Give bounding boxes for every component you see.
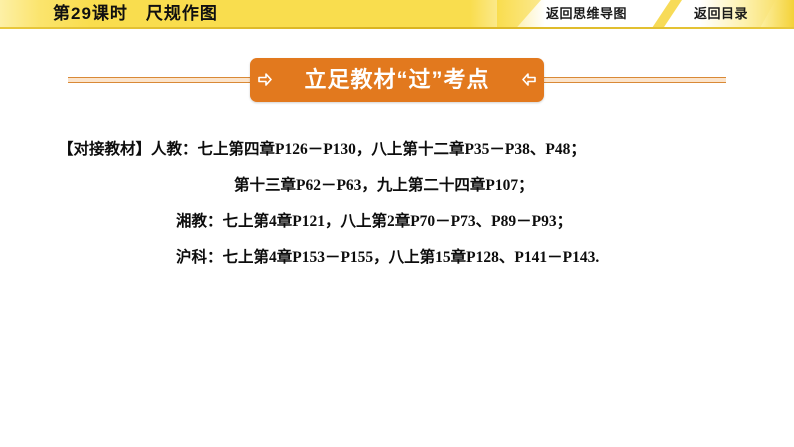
nav-back-to-contents[interactable]: 返回目录 [694,2,748,26]
banner-rule-left [68,77,253,83]
slide-canvas: 第29课时 尺规作图 返回思维导图 返回目录 立足教材“过”考点 【对接教材】人… [0,0,794,447]
textbook-line-3: 湘教：七上第4章P121，八上第2章P70－P73、P89－P93； [58,204,738,240]
arrow-left-icon [522,72,536,87]
textbook-line-4: 沪科：七上第4章P153－P155，八上第15章P128、P141－P143. [58,240,738,276]
header-underline [0,27,794,29]
textbook-mapping-block: 【对接教材】人教：七上第四章P126－P130，八上第十二章P35－P38、P4… [58,132,738,276]
textbook-line-1: 【对接教材】人教：七上第四章P126－P130，八上第十二章P35－P38、P4… [58,132,738,168]
textbook-line-2: 第十三章P62－P63，九上第二十四章P107； [58,168,738,204]
section-banner: 立足教材“过”考点 [250,58,544,102]
page-title: 第29课时 尺规作图 [53,1,218,27]
banner-rule-right [541,77,726,83]
section-banner-label: 立足教材“过”考点 [250,58,544,102]
header-bar: 第29课时 尺规作图 返回思维导图 返回目录 [0,0,794,31]
nav-back-to-mindmap[interactable]: 返回思维导图 [546,2,627,26]
